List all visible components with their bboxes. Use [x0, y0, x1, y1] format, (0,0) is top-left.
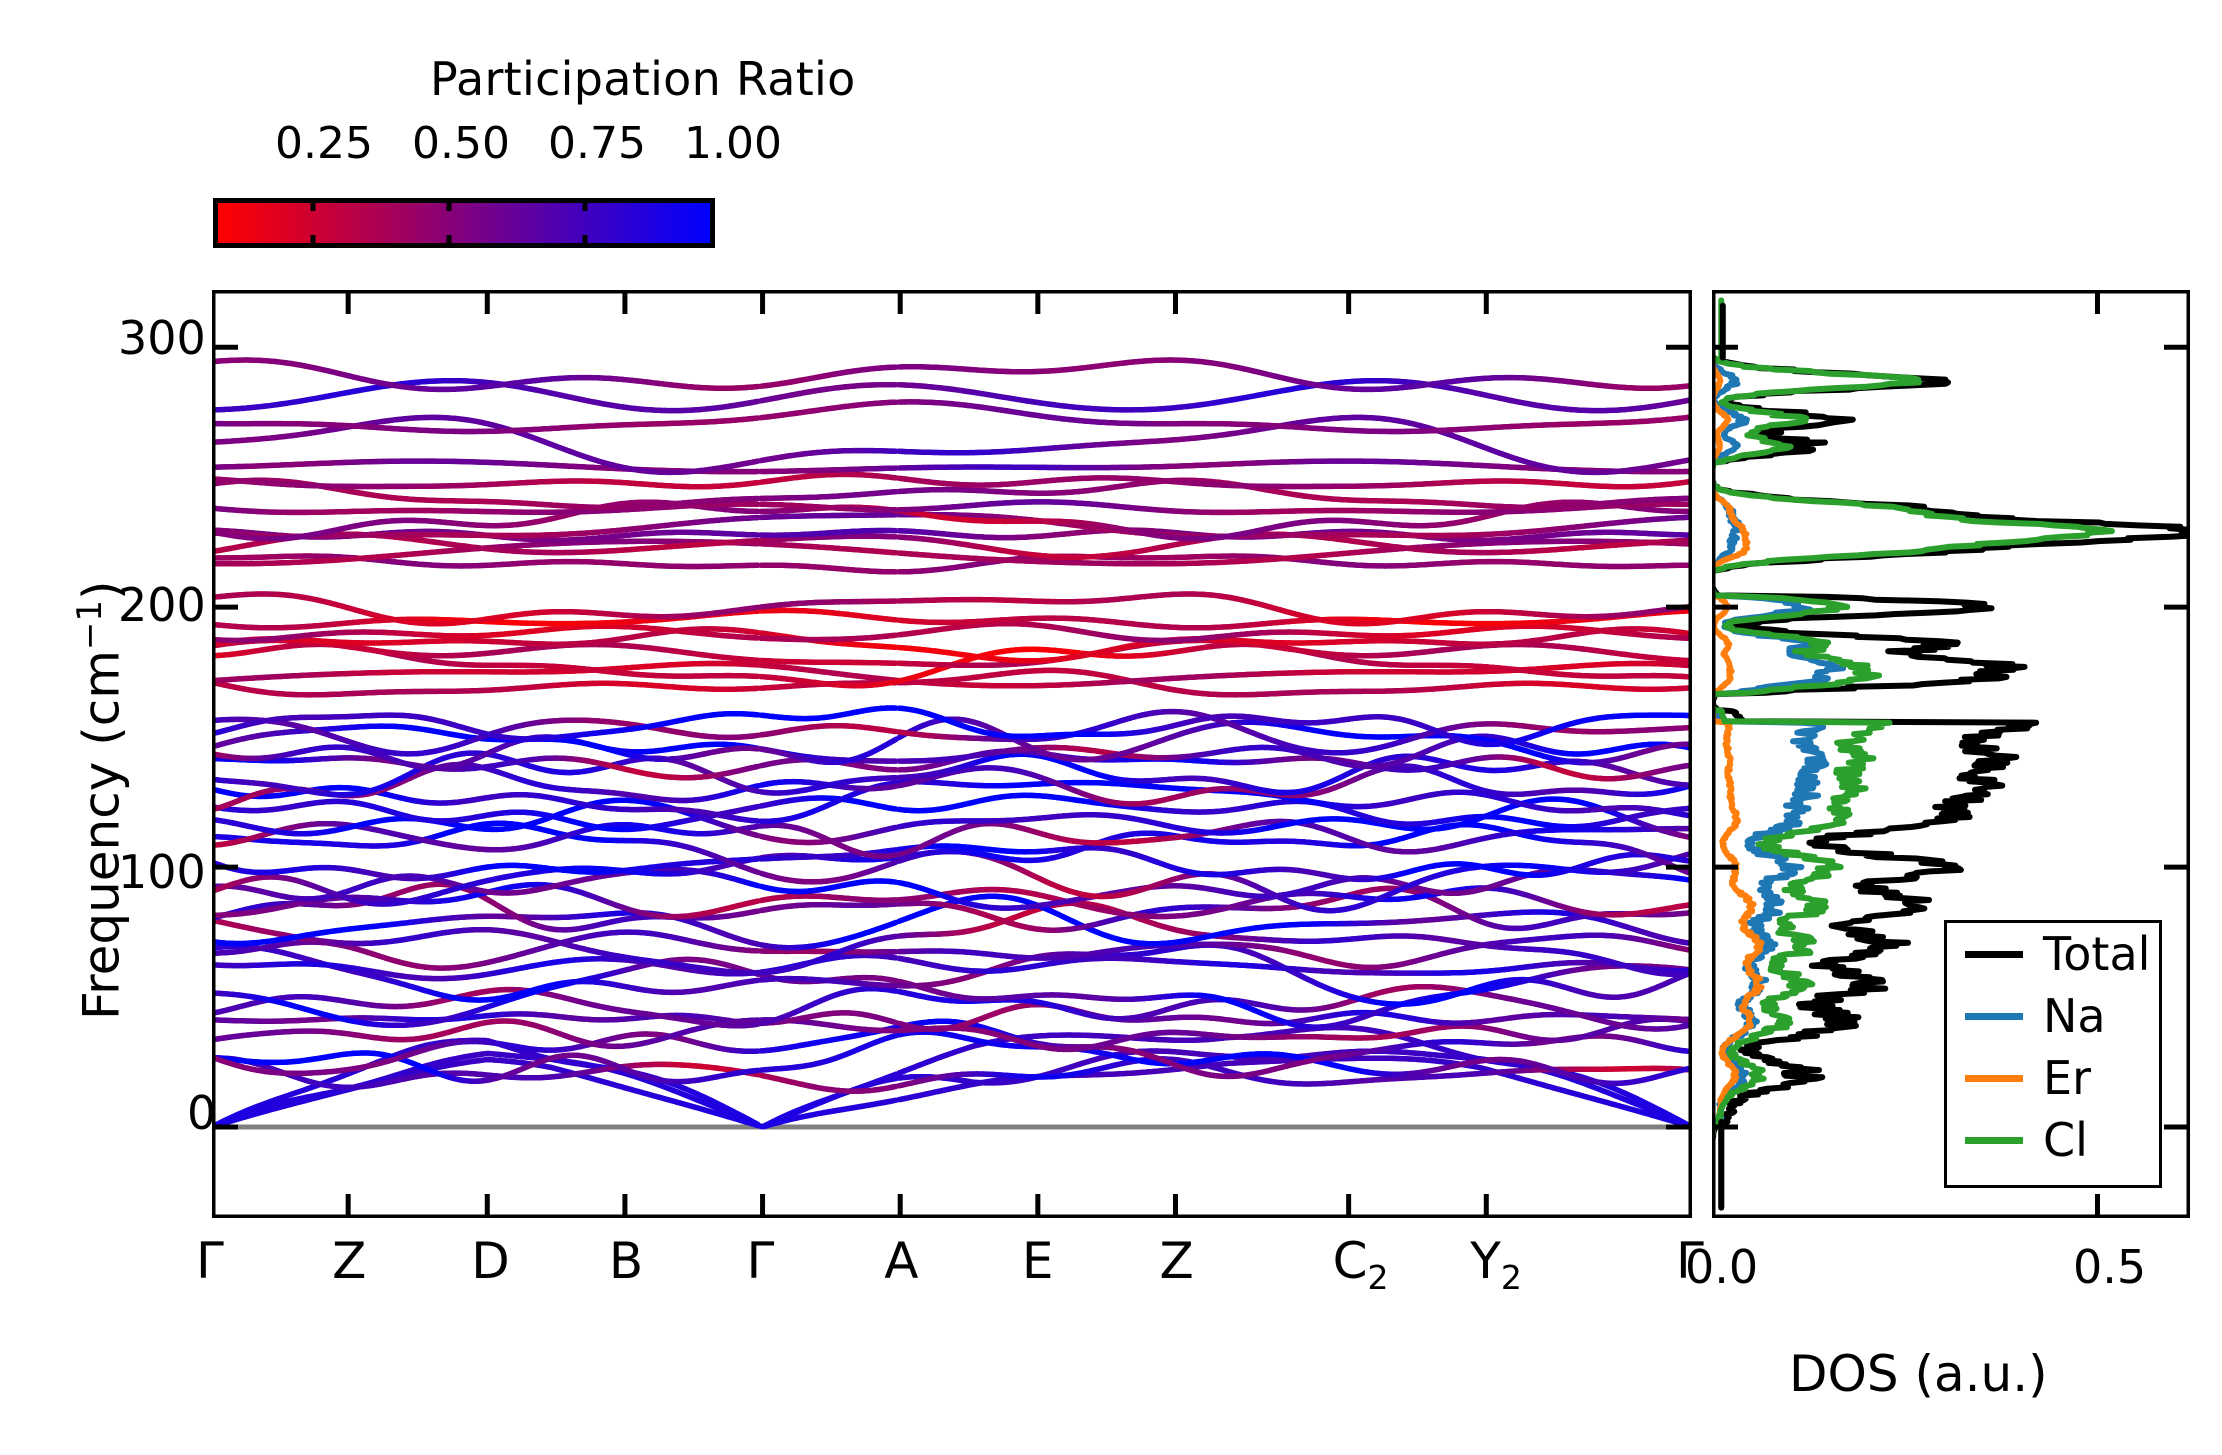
band-structure-panel[interactable] [212, 290, 1692, 1218]
legend-label-na: Na [2043, 993, 2106, 1039]
k-label-5: A [884, 1232, 918, 1290]
dos-x-tick-label-0: 0.0 [1685, 1240, 1758, 1294]
k-label-7: Z [1159, 1232, 1193, 1290]
y-tick-label-300: 300 [118, 311, 206, 365]
legend-label-total: Total [2043, 931, 2150, 977]
legend-item-total[interactable]: Total [1947, 923, 2159, 985]
legend-item-cl[interactable]: Cl [1947, 1109, 2159, 1171]
legend-swatch-total [1965, 951, 2023, 958]
colorbar-tick-3: 1.00 [684, 118, 782, 169]
k-label-1: Z [332, 1232, 366, 1290]
k-label-0: Γ [196, 1232, 224, 1290]
k-label-2: D [471, 1232, 510, 1290]
colorbar-tick-marks [213, 198, 715, 248]
y-axis-label-text: Frequency (cm [73, 650, 131, 1020]
colorbar-tick-2: 0.75 [548, 118, 646, 169]
legend-label-cl: Cl [2043, 1117, 2088, 1163]
dos-x-axis-label: DOS (a.u.) [1789, 1345, 2048, 1403]
legend-swatch-na [1965, 1013, 2023, 1020]
y-tick-label-100: 100 [118, 845, 206, 899]
k-label-6: E [1022, 1232, 1054, 1290]
k-path-labels: ΓZDBΓAEZC2Y2Γ [212, 1232, 1692, 1312]
k-label-8: C2 [1333, 1232, 1389, 1297]
legend-item-er[interactable]: Er [1947, 1047, 2159, 1109]
colorbar-tick-0: 0.25 [275, 118, 373, 169]
legend-swatch-er [1965, 1075, 2023, 1082]
y-tick-label-200: 200 [118, 578, 206, 632]
y-axis-label-exponent: −1 [70, 600, 110, 650]
dos-legend[interactable]: Total Na Er Cl [1944, 920, 2162, 1188]
k-label-9: Y2 [1470, 1232, 1522, 1297]
legend-label-er: Er [2043, 1055, 2091, 1101]
legend-item-na[interactable]: Na [1947, 985, 2159, 1047]
k-label-3: B [609, 1232, 643, 1290]
colorbar-tick-1: 0.50 [412, 118, 510, 169]
legend-swatch-cl [1965, 1137, 2023, 1144]
colorbar-title: Participation Ratio [430, 52, 856, 106]
dos-x-tick-label-1: 0.5 [2073, 1240, 2146, 1294]
k-label-4: Γ [747, 1232, 775, 1290]
